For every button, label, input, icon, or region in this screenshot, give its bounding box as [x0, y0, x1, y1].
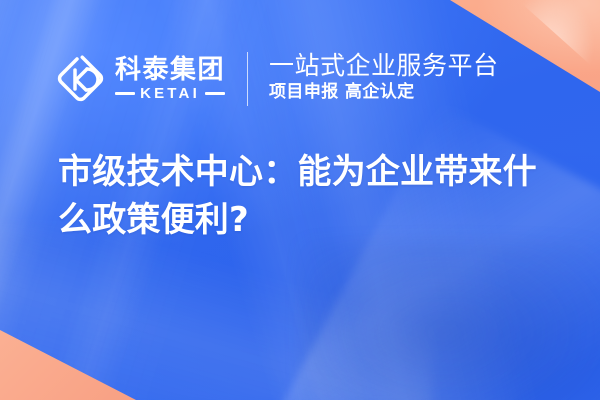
logo-company-name-en-row: KETAI — [115, 86, 225, 101]
brand-logo[interactable]: 科泰集团 KETAI — [56, 54, 225, 104]
banner-header: 科泰集团 KETAI 一站式企业服务平台 项目申报 高企认定 — [56, 44, 499, 114]
logo-dash-right — [205, 92, 225, 95]
tagline-secondary: 项目申报 高企认定 — [269, 80, 499, 106]
page-title: 市级技术中心：能为企业带来什么政策便利? — [58, 148, 558, 245]
background-shadow-lower-right — [300, 240, 600, 400]
ketai-monogram-icon — [56, 54, 106, 104]
header-divider — [247, 52, 248, 106]
tagline-primary: 一站式企业服务平台 — [269, 52, 499, 80]
logo-wordmark: 科泰集团 KETAI — [115, 57, 225, 102]
logo-dash-left — [115, 92, 135, 95]
promo-banner: 科泰集团 KETAI 一站式企业服务平台 项目申报 高企认定 市级技术中心：能为… — [0, 0, 600, 400]
header-tagline: 一站式企业服务平台 项目申报 高企认定 — [269, 52, 499, 106]
logo-company-name-cn: 科泰集团 — [115, 57, 225, 84]
logo-company-name-en: KETAI — [140, 86, 200, 101]
